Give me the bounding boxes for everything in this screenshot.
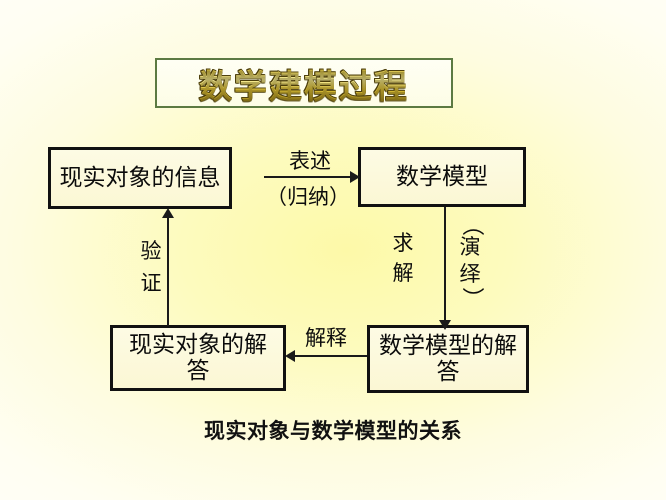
- arrow-express-line: [264, 176, 352, 178]
- arrow-verify-line: [167, 218, 169, 326]
- page-title: 数学建模过程: [155, 59, 453, 108]
- node-real-object-info[interactable]: 现实对象的信息: [48, 147, 232, 209]
- node-math-model[interactable]: 数学模型: [358, 147, 526, 207]
- arrow-solve-label-char-2: 解: [388, 258, 418, 288]
- arrow-interpret-line: [295, 355, 367, 357]
- slide-canvas: 数学建模过程 现实对象的信息 数学模型 现实对象的解答 数学模型的解答 表述 （…: [0, 0, 666, 500]
- arrow-solve-label-right: （ 演 绎 ）: [455, 216, 485, 307]
- arrow-solve-line: [444, 207, 446, 325]
- arrow-solve-label-left: 求 解: [388, 228, 418, 289]
- node-real-object-answer[interactable]: 现实对象的解答: [110, 325, 286, 391]
- arrow-solve-paren-open: （: [461, 210, 479, 240]
- arrow-down-icon: [439, 320, 451, 330]
- arrow-verify-char-1: 验: [138, 236, 164, 268]
- arrow-up-icon: [162, 208, 174, 218]
- arrow-solve-label-char-1: 求: [388, 228, 418, 258]
- arrow-verify-char-2: 证: [138, 268, 164, 300]
- arrow-solve-paren-close: ）: [461, 283, 479, 313]
- arrow-verify-label: 验 证: [138, 236, 164, 299]
- diagram-caption: 现实对象与数学模型的关系: [0, 415, 666, 445]
- node-math-model-answer[interactable]: 数学模型的解答: [367, 325, 529, 393]
- arrow-interpret-label: 解释: [289, 322, 363, 352]
- arrow-express-label-top: 表述: [264, 145, 356, 175]
- arrow-express-label-bottom: （归纳）: [258, 181, 358, 211]
